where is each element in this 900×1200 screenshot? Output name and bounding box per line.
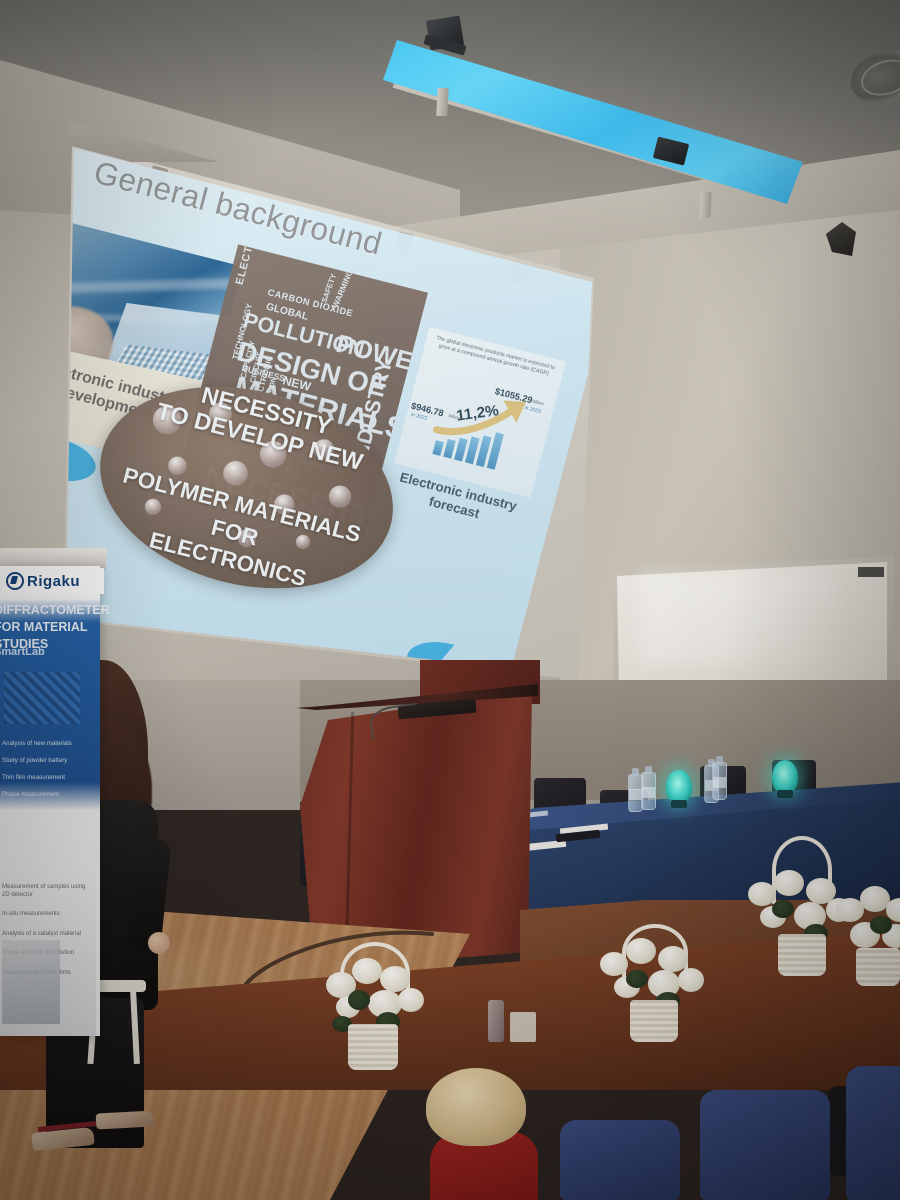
lecture-hall-photo: General background Electronic industry d… [0, 0, 900, 1200]
banner-bullet: Thin film measurement [2, 774, 94, 782]
rigaku-logo: Rigaku [2, 568, 104, 594]
water-bottle [712, 762, 727, 800]
audience-seat [846, 1066, 900, 1200]
whiteboard-glare [640, 574, 840, 664]
presenter-shoe [96, 1110, 155, 1129]
banner-bullet: Study of powder battery [2, 757, 94, 765]
banner-bullet: Analysis of new materials [2, 740, 94, 748]
audience-seat [560, 1120, 680, 1200]
audience-seat [700, 1090, 830, 1200]
light-post-right [699, 192, 711, 219]
glowing-award-trophy [772, 760, 798, 794]
floor-box [510, 1012, 536, 1042]
floor-bottle [488, 1000, 504, 1042]
audience-member [426, 1068, 530, 1200]
glowing-award-trophy [666, 770, 692, 804]
water-bottle [641, 772, 656, 810]
whiteboard-magnet-icon [858, 567, 884, 577]
chart-caption: The global electronic products market is… [430, 334, 558, 380]
banner-bullet: Phase measurement [2, 791, 94, 799]
banner-product: SmartLab [0, 646, 98, 658]
light-post-left [436, 88, 448, 117]
rigaku-wordmark: Rigaku [27, 573, 80, 590]
audience-member-hair [426, 1068, 526, 1146]
wc-electronic-products: ELECTRONIC PRODUCTS [234, 244, 283, 286]
forecast-chart: The global electronic products market is… [394, 327, 566, 498]
presenter-hand [148, 932, 170, 954]
banner-photo [2, 940, 60, 1024]
banner-diffraction-image [4, 672, 80, 724]
banner-lower-bullet: In-situ measurements [2, 911, 92, 919]
rigaku-mark-icon [6, 572, 24, 590]
banner-lower-bullet: Analysis of a catalyst material [2, 931, 92, 939]
banner-bullet-list: Analysis of new materials Study of powde… [2, 740, 94, 808]
banner-lower-bullet: Measurement of samples using 2D detector [2, 884, 92, 899]
